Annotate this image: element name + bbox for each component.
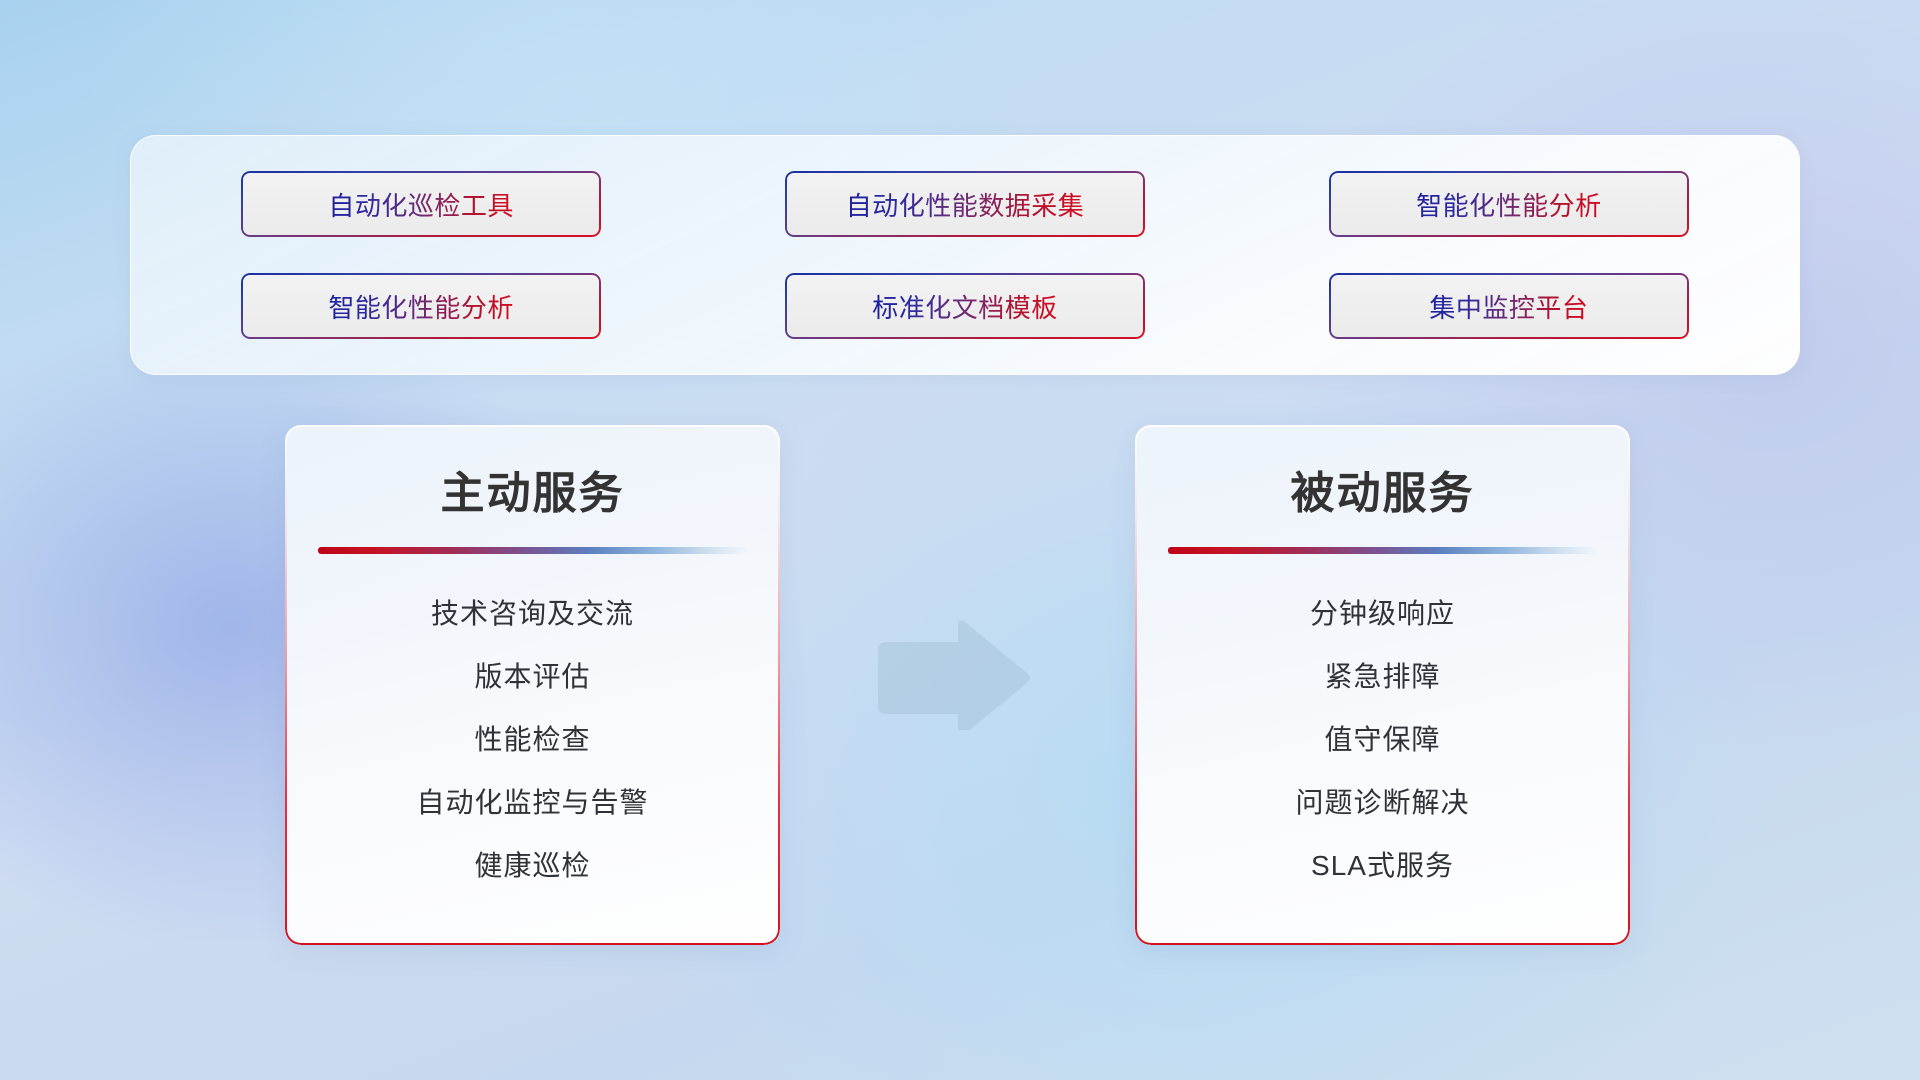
tag-cell: 智能化性能分析 <box>1259 171 1759 237</box>
flow-arrow <box>872 620 1032 730</box>
service-card-proactive: 主动服务 技术咨询及交流 版本评估 性能检查 自动化监控与告警 健康巡检 <box>285 425 780 945</box>
card-title: 被动服务 <box>1135 457 1630 521</box>
tag-chip-auto-perf-data-collection[interactable]: 自动化性能数据采集 <box>785 171 1145 237</box>
tag-chip-label: 自动化性能数据采集 <box>846 186 1085 223</box>
tag-row: 智能化性能分析 标准化文档模板 集中监控平台 <box>171 273 1759 339</box>
card-title-rule <box>318 547 748 554</box>
tag-chip-intelligent-perf-analysis-top[interactable]: 智能化性能分析 <box>1329 171 1689 237</box>
card-title: 主动服务 <box>285 457 780 521</box>
tag-cell: 集中监控平台 <box>1259 273 1759 339</box>
tag-cell: 自动化性能数据采集 <box>715 171 1215 237</box>
tag-chip-intelligent-perf-analysis-bottom[interactable]: 智能化性能分析 <box>241 273 601 339</box>
card-item[interactable]: 紧急排障 <box>1324 659 1440 694</box>
card-item[interactable]: 技术咨询及交流 <box>431 596 634 631</box>
tag-cell: 自动化巡检工具 <box>171 171 671 237</box>
tag-row: 自动化巡检工具 自动化性能数据采集 智能化性能分析 <box>171 171 1759 237</box>
tag-cell: 智能化性能分析 <box>171 273 671 339</box>
card-item[interactable]: SLA式服务 <box>1311 848 1454 883</box>
tag-chip-auto-inspection-tool[interactable]: 自动化巡检工具 <box>241 171 601 237</box>
service-card-reactive: 被动服务 分钟级响应 紧急排障 值守保障 问题诊断解决 SLA式服务 <box>1135 425 1630 945</box>
tag-chip-label: 智能化性能分析 <box>1416 186 1602 223</box>
card-item[interactable]: 分钟级响应 <box>1310 596 1455 631</box>
tag-chip-label: 智能化性能分析 <box>328 288 514 325</box>
card-item-list: 分钟级响应 紧急排障 值守保障 问题诊断解决 SLA式服务 <box>1135 596 1630 883</box>
card-item[interactable]: 问题诊断解决 <box>1295 785 1469 820</box>
tag-cell: 标准化文档模板 <box>715 273 1215 339</box>
tag-chip-standard-doc-template[interactable]: 标准化文档模板 <box>785 273 1145 339</box>
arrow-right-icon <box>872 620 1032 730</box>
tag-chip-label: 标准化文档模板 <box>872 288 1058 325</box>
capability-tag-panel: 自动化巡检工具 自动化性能数据采集 智能化性能分析 智能化性能分析 标准化文档模… <box>130 135 1800 375</box>
tag-chip-label: 集中监控平台 <box>1429 288 1588 325</box>
card-item[interactable]: 值守保障 <box>1324 722 1440 757</box>
tag-chip-central-monitoring-platform[interactable]: 集中监控平台 <box>1329 273 1689 339</box>
card-item[interactable]: 健康巡检 <box>474 848 590 883</box>
card-item[interactable]: 性能检查 <box>474 722 590 757</box>
card-item[interactable]: 自动化监控与告警 <box>416 785 648 820</box>
tag-chip-label: 自动化巡检工具 <box>328 186 514 223</box>
card-item[interactable]: 版本评估 <box>474 659 590 694</box>
card-title-rule <box>1168 547 1598 554</box>
card-item-list: 技术咨询及交流 版本评估 性能检查 自动化监控与告警 健康巡检 <box>285 596 780 883</box>
